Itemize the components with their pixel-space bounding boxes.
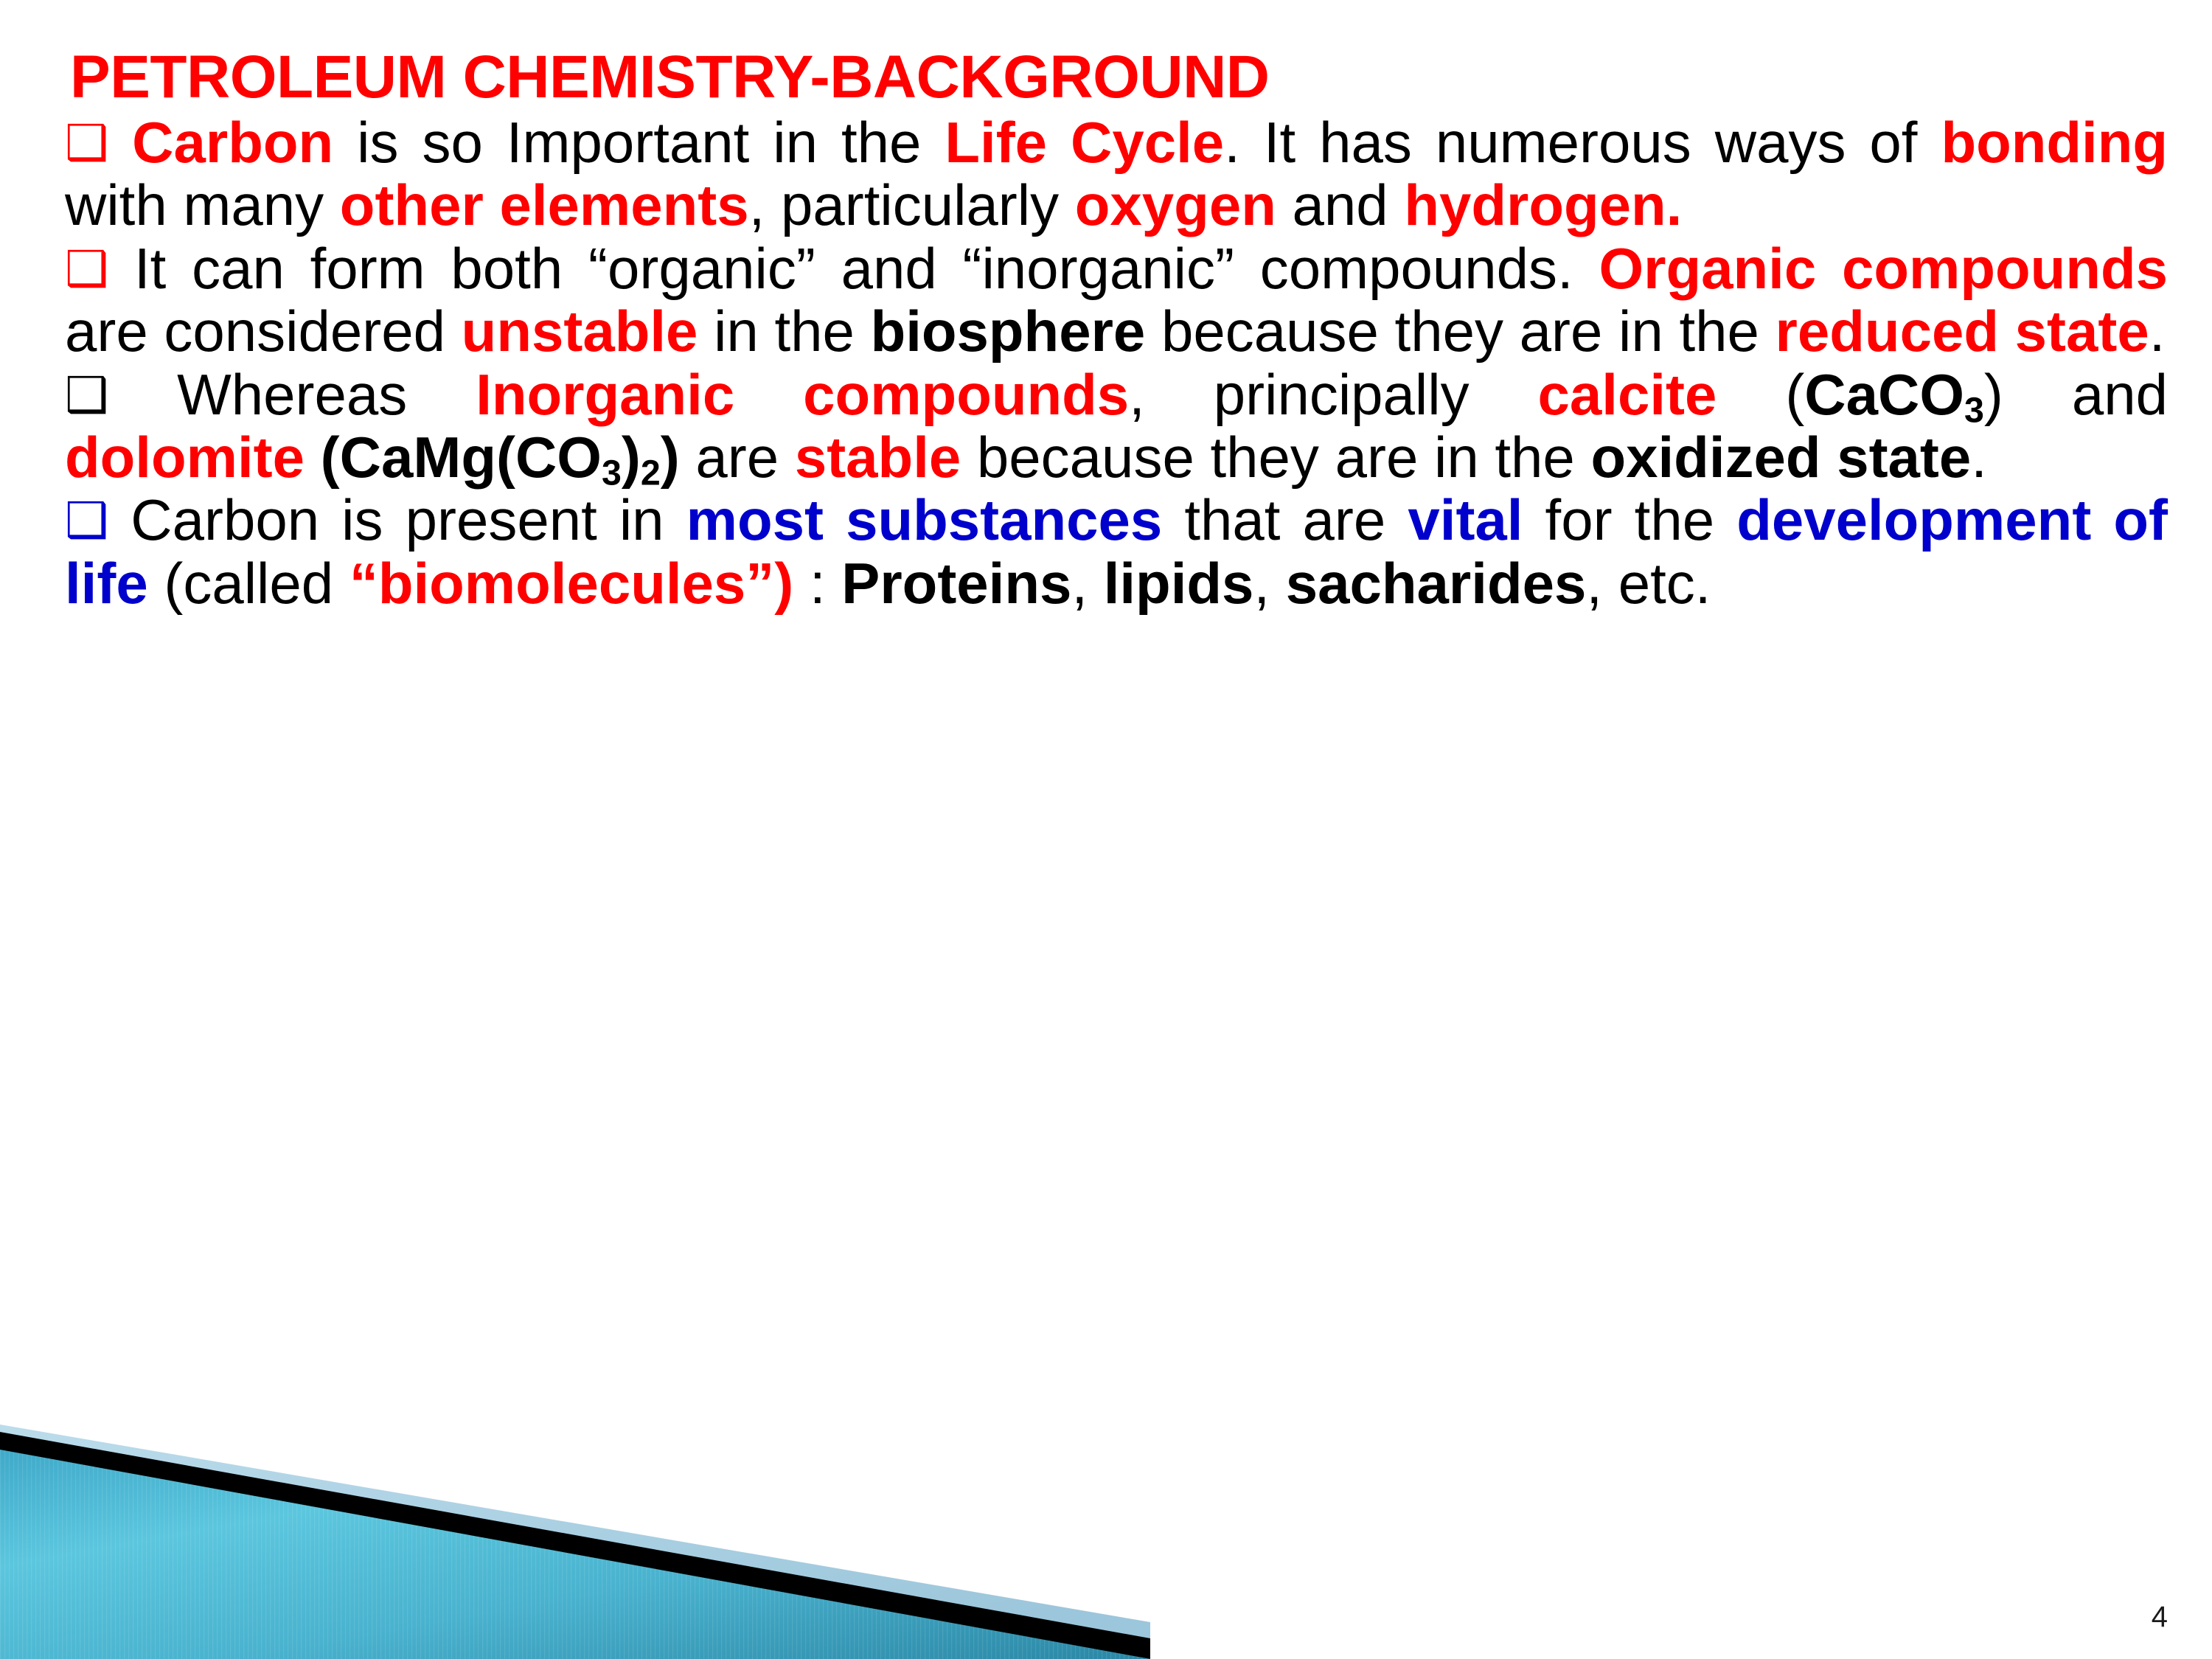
segment-sacharides: sacharides (1286, 551, 1587, 616)
segment-4-2: that are (1162, 487, 1408, 552)
segment-inorganic-compounds: Inorganic compounds (476, 362, 1129, 427)
segment-4-8: : (793, 551, 841, 616)
segment-oxidized-state: oxidized state (1590, 425, 1971, 490)
segment-formula-dolomite: (CaMg(CO3)2) (305, 425, 680, 490)
bullet-1-text: Carbon is so Important in the Life Cycle… (65, 110, 2168, 237)
hollow-square-bullet-icon: ❑ (65, 492, 108, 549)
segment-biomolecules: “biomolecules”) (349, 551, 793, 616)
segment-3-2: , principally (1129, 362, 1537, 427)
segment-1-3: . It has numerous ways of (1224, 110, 1941, 175)
page-title: PETROLEUM CHEMISTRY-BACKGROUND (0, 0, 2212, 110)
bullet-2-text: It can form both “organic” and “inorgani… (65, 236, 2168, 364)
segment-1-1: is so Important in the (333, 110, 945, 175)
segment-2-2: are considered (65, 299, 462, 364)
segment-bonding: bonding (1941, 110, 2168, 175)
segment-4-4: for the (1523, 487, 1736, 552)
segment-3-13: . (1971, 425, 1987, 490)
list-item: ❑ It can form both “organic” and “inorga… (65, 237, 2168, 364)
segment-life-cycle: Life Cycle (945, 110, 1224, 175)
segment-biosphere: biosphere (871, 299, 1146, 364)
segment-2-0: It can form both “organic” and “inorgani… (134, 236, 1599, 301)
segment-carbon: Carbon (132, 110, 333, 175)
bullet-list: ❑ Carbon is so Important in the Life Cyc… (0, 110, 2212, 615)
bullet-3-text: Whereas Inorganic compounds, principally… (65, 362, 2168, 490)
list-item: ❑ Whereas Inorganic compounds, principal… (65, 364, 2168, 490)
segment-dolomite: dolomite (65, 425, 305, 490)
segment-3-9: are (680, 425, 795, 490)
segment-1-9: and (1276, 173, 1404, 237)
segment-2-6: because they are in the (1145, 299, 1775, 364)
segment-2-8: . (2149, 299, 2166, 364)
segment-4-6: (called (148, 551, 349, 616)
corner-decoration-graphic (0, 1379, 1150, 1659)
segment-stable: stable (795, 425, 961, 490)
segment-calcite: calcite (1538, 362, 1717, 427)
segment-organic-compounds: Organic compounds (1599, 236, 2168, 301)
segment-4-10: , (1071, 551, 1103, 616)
segment-3-11: because they are in the (961, 425, 1590, 490)
segment-most-substances: most substances (686, 487, 1163, 552)
segment-4-14: , etc. (1586, 551, 1711, 616)
slide-root: PETROLEUM CHEMISTRY-BACKGROUND ❑ Carbon … (0, 0, 2212, 1659)
segment-vital: vital (1408, 487, 1523, 552)
segment-3-4: ( (1717, 362, 1804, 427)
hollow-square-bullet-icon: ❑ (65, 114, 108, 171)
segment-proteins: Proteins (841, 551, 1071, 616)
segment-3-6: ) and (1984, 362, 2168, 427)
bullet-4-text: Carbon is present in most substances tha… (65, 487, 2168, 615)
hollow-square-bullet-icon: ❑ (65, 240, 108, 297)
segment-other-elements: other elements (340, 173, 749, 237)
segment-oxygen: oxygen (1075, 173, 1276, 237)
list-item: ❑ Carbon is present in most substances t… (65, 489, 2168, 615)
page-number: 4 (2152, 1601, 2168, 1634)
segment-3-0: Whereas (177, 362, 476, 427)
segment-formula-calcite: CaCO3 (1804, 362, 1984, 427)
slide-content: PETROLEUM CHEMISTRY-BACKGROUND ❑ Carbon … (0, 0, 2212, 615)
segment-4-0: Carbon is present in (131, 487, 686, 552)
segment-1-5: with many (65, 173, 340, 237)
segment-unstable: unstable (462, 299, 698, 364)
hollow-square-bullet-icon: ❑ (65, 366, 108, 423)
segment-reduced-state: reduced state (1775, 299, 2149, 364)
segment-2-4: in the (698, 299, 870, 364)
list-item: ❑ Carbon is so Important in the Life Cyc… (65, 111, 2168, 237)
segment-1-7: , particularly (749, 173, 1075, 237)
segment-lipids: lipids (1104, 551, 1254, 616)
segment-hydrogen: hydrogen. (1404, 173, 1682, 237)
segment-4-12: , (1253, 551, 1285, 616)
